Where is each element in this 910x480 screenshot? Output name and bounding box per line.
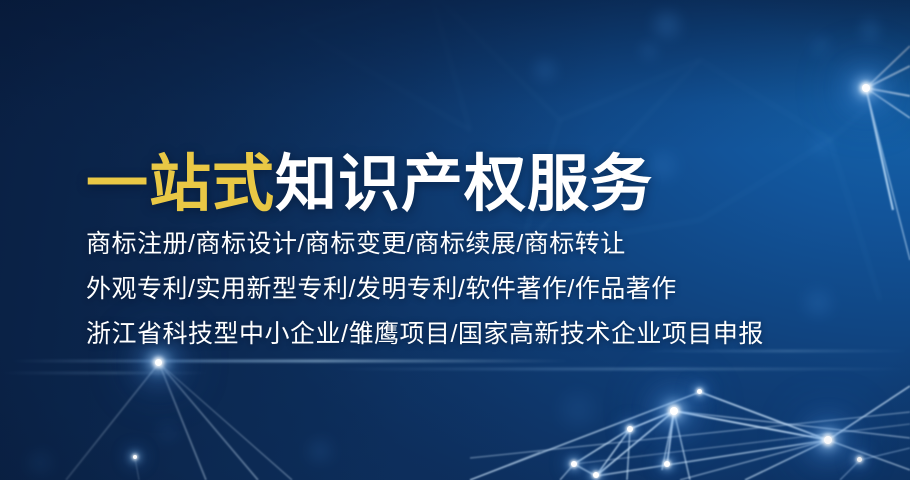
headline-rest: 知识产权服务 <box>275 150 653 219</box>
headline-highlight: 一站式 <box>86 150 275 219</box>
banner-headline: 一站式知识产权服务 <box>86 154 653 216</box>
service-line: 浙江省科技型中小企业/雏鹰项目/国家高新技术企业项目申报 <box>86 312 764 357</box>
banner-content: 一站式知识产权服务 商标注册/商标设计/商标变更/商标续展/商标转让 外观专利/… <box>86 0 846 480</box>
promo-banner: 一站式知识产权服务 商标注册/商标设计/商标变更/商标续展/商标转让 外观专利/… <box>0 0 910 480</box>
service-line: 商标注册/商标设计/商标变更/商标续展/商标转让 <box>86 222 764 267</box>
banner-service-list: 商标注册/商标设计/商标变更/商标续展/商标转让 外观专利/实用新型专利/发明专… <box>86 222 764 357</box>
service-line: 外观专利/实用新型专利/发明专利/软件著作/作品著作 <box>86 267 764 312</box>
